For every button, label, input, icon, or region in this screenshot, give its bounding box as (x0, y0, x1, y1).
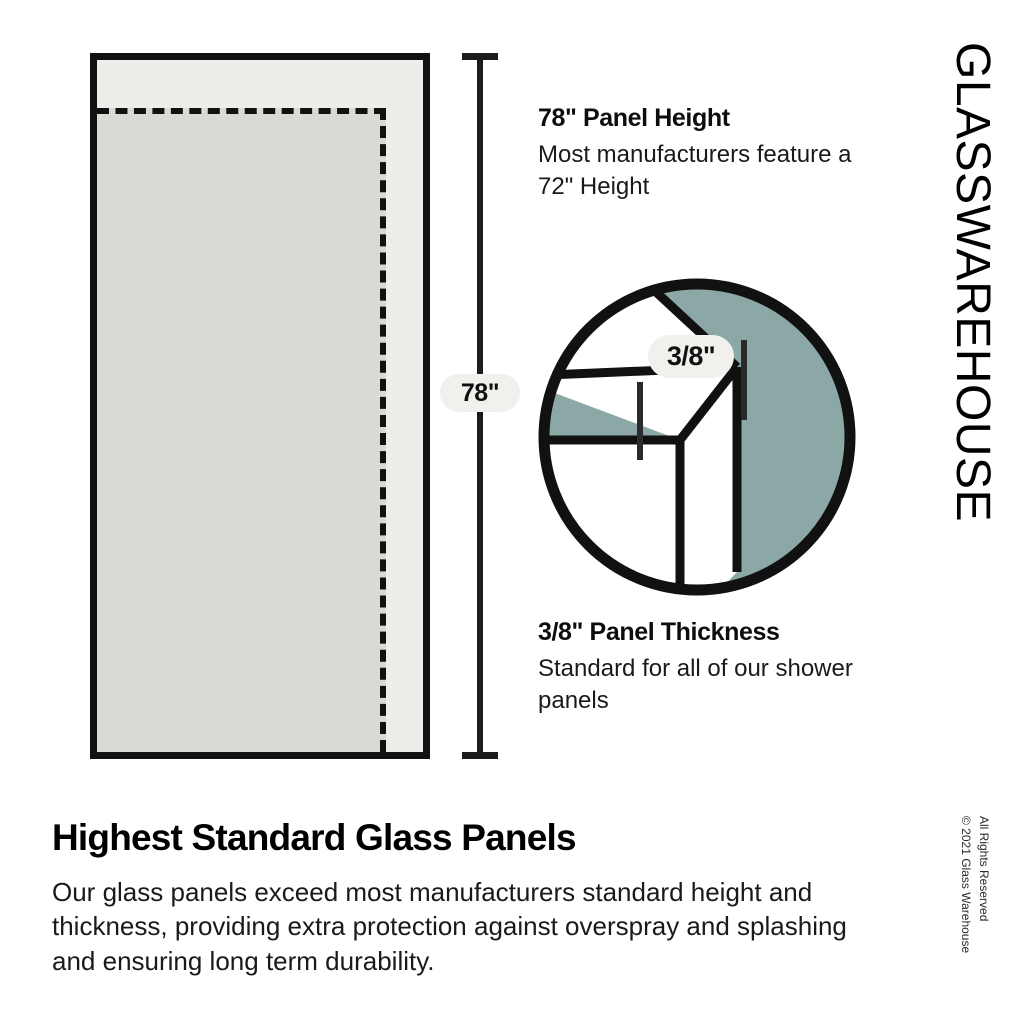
copyright-notice: © 2021 Glass Warehouse All Rights Reserv… (954, 816, 1010, 996)
height-measurement-label: 78" (440, 374, 520, 412)
callout-height-title: 78" Panel Height (538, 104, 868, 133)
callout-height-body: Most manufacturers feature a 72" Height (538, 139, 868, 203)
thickness-measurement-label: 3/8" (648, 335, 734, 378)
thickness-detail-illustration: 3/8" (532, 272, 862, 602)
footer-text-block: Highest Standard Glass Panels Our glass … (52, 818, 892, 978)
panel-diagram (90, 53, 430, 759)
footer-heading: Highest Standard Glass Panels (52, 818, 892, 859)
brand-logotype-text: GLASSWAREHOUSE (945, 42, 1000, 522)
height-dimension-line: 78" (462, 53, 498, 759)
copyright-line-2: All Rights Reserved (978, 816, 990, 921)
callout-panel-height: 78" Panel Height Most manufacturers feat… (538, 104, 868, 203)
competitor-panel-dashed-outline (97, 108, 386, 752)
callout-panel-thickness: 3/8" Panel Thickness Standard for all of… (538, 618, 868, 717)
dimension-cap-bottom (462, 752, 498, 759)
callout-thickness-title: 3/8" Panel Thickness (538, 618, 868, 647)
glass-edge-detail-svg (532, 272, 862, 602)
brand-logotype: GLASSWAREHOUSE (948, 42, 1008, 602)
copyright-line-1: © 2021 Glass Warehouse (960, 816, 972, 953)
callout-thickness-body: Standard for all of our shower panels (538, 653, 868, 717)
footer-paragraph: Our glass panels exceed most manufacture… (52, 875, 892, 979)
